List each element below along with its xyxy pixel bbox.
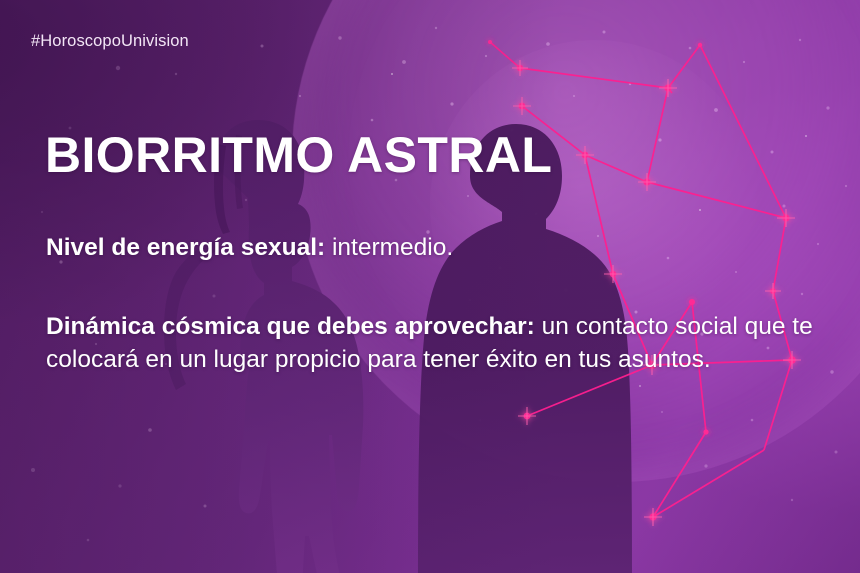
page-title: BIORRITMO ASTRAL bbox=[45, 128, 552, 182]
card-content: #HoroscopoUnivision BIORRITMO ASTRAL Niv… bbox=[0, 0, 860, 573]
hashtag-label: #HoroscopoUnivision bbox=[31, 32, 189, 51]
cosmic-dynamic-label: Dinámica cósmica que debes aprovechar: bbox=[46, 313, 535, 340]
energy-level-value: intermedio. bbox=[325, 234, 453, 261]
energy-level-label: Nivel de energía sexual: bbox=[46, 234, 325, 261]
cosmic-dynamic-paragraph: Dinámica cósmica que debes aprovechar: u… bbox=[46, 310, 818, 376]
horoscope-card: #HoroscopoUnivision BIORRITMO ASTRAL Niv… bbox=[0, 0, 860, 573]
energy-level-paragraph: Nivel de energía sexual: intermedio. bbox=[46, 231, 806, 264]
